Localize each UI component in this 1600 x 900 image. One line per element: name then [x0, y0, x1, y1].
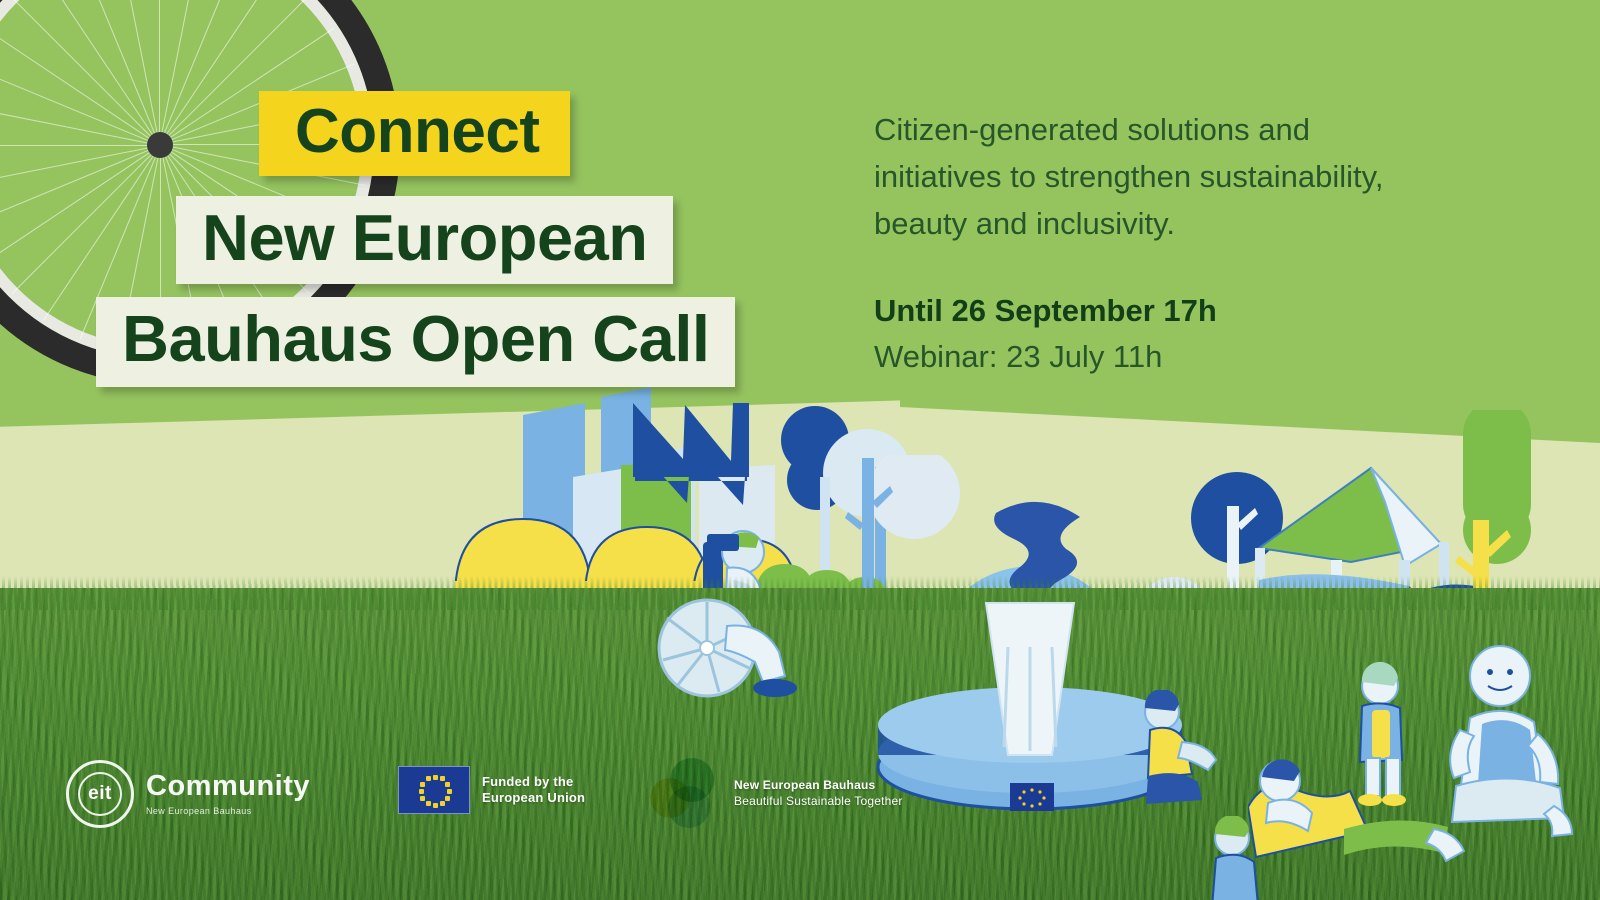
eu-star-icon: [447, 789, 452, 794]
lede-text: Citizen-generated solutions and initiati…: [874, 106, 1434, 247]
eu-star-icon: [419, 789, 424, 794]
bicycle-spoke: [159, 0, 160, 145]
eu-star-icon: [433, 803, 438, 808]
eu-flag-icon: [398, 766, 470, 814]
bicycle-spoke: [159, 0, 240, 145]
neb-circle-blue: [668, 786, 710, 828]
eu-funding-text: Funded by the European Union: [482, 774, 585, 807]
bicycle-spoke: [0, 145, 160, 146]
neb-line2: Beautiful Sustainable Together: [734, 793, 903, 809]
copy-block: Citizen-generated solutions and initiati…: [874, 106, 1434, 377]
headline-connect: Connect: [259, 91, 570, 176]
bicycle-spoke: [79, 0, 160, 145]
eit-mark-icon: eit: [66, 760, 134, 828]
bicycle-spoke: [11, 0, 160, 146]
eu-star-icon: [440, 801, 445, 806]
eu-star-icon: [433, 775, 438, 780]
headline-bauhaus-open-call: Bauhaus Open Call: [96, 297, 735, 387]
eit-title: Community: [146, 772, 310, 801]
bicycle-spoke: [42, 0, 160, 146]
dates-block: Until 26 September 17h Webinar: 23 July …: [874, 291, 1434, 377]
neb-wordmark: New European Bauhaus Beautiful Sustainab…: [734, 777, 903, 809]
new-european-bauhaus-logo: New European Bauhaus Beautiful Sustainab…: [650, 756, 903, 830]
bicycle-spoke: [0, 145, 160, 226]
eu-star-icon: [426, 801, 431, 806]
deadline-text: Until 26 September 17h: [874, 291, 1434, 331]
headline-new-european: New European: [176, 196, 673, 284]
eu-star-icon: [440, 776, 445, 781]
eu-star-icon: [426, 776, 431, 781]
wheelchair-user-foreground: [655, 520, 815, 705]
eit-community-logo: eit Community New European Bauhaus: [66, 760, 310, 828]
eit-subtitle: New European Bauhaus: [146, 806, 310, 816]
eit-wordmark: Community New European Bauhaus: [146, 772, 310, 816]
eu-star-icon: [420, 782, 425, 787]
neb-circles-icon: [650, 756, 724, 830]
eit-mark-label: eit: [88, 783, 112, 805]
eu-star-icon: [445, 782, 450, 787]
bicycle-spoke: [0, 65, 160, 146]
eu-funding-logo: Funded by the European Union: [398, 766, 585, 814]
eu-star-icon: [420, 796, 425, 801]
eu-star-icon: [445, 796, 450, 801]
webinar-text: Webinar: 23 July 11h: [874, 336, 1434, 378]
promotional-banner: Connect New European Bauhaus Open Call C…: [0, 0, 1600, 900]
bicycle-spoke: [12, 145, 161, 294]
logo-row: eit Community New European Bauhaus Funde…: [0, 752, 1600, 842]
eu-funding-line1: Funded by the: [482, 774, 585, 790]
bicycle-hub: [147, 132, 173, 158]
neb-line1: New European Bauhaus: [734, 777, 903, 793]
eu-funding-line2: European Union: [482, 790, 585, 806]
